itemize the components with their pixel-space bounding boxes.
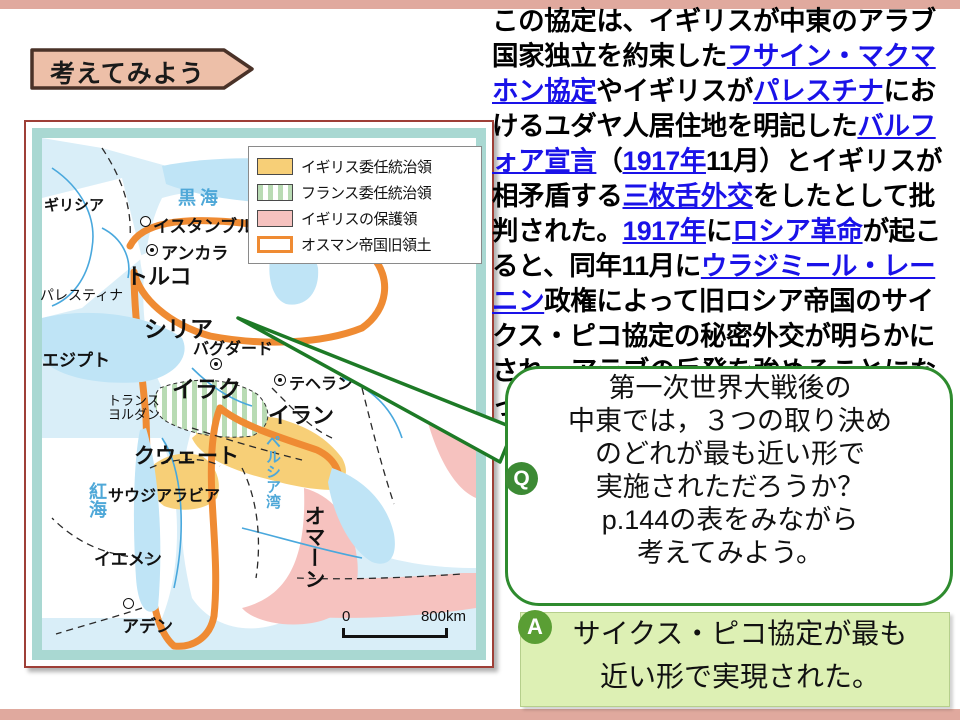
map-label-palestine: パレスティナ (40, 285, 123, 305)
city-dot-baghdad (210, 358, 222, 370)
map-scale-bar: 0 800km (340, 608, 460, 640)
map-label-aden: アデン (122, 612, 173, 637)
legend-item-british-protectorate: イギリスの保護領 (257, 205, 475, 231)
legend-item-british-mandate: イギリス委任統治領 (257, 153, 475, 179)
map-label-istanbul: イスタンブル (153, 212, 254, 237)
answer-badge-icon: A (518, 610, 552, 644)
city-dot-aden (123, 598, 134, 609)
map-label-iraq: イラク (172, 370, 241, 404)
article-span: やイギリスが (596, 76, 753, 106)
article-span: （ (596, 146, 622, 176)
map-label-turkey: トルコ (126, 259, 192, 291)
legend-label-french-mandate: フランス委任統治領 (301, 182, 431, 203)
map-label-egypt: エジプト (42, 346, 110, 371)
legend-item-french-mandate: フランス委任統治領 (257, 179, 475, 205)
question-text: 第一次世界大戦後の中東では，３つの取り決めのどれが最も近い形で実施されただろうか… (520, 372, 940, 570)
scale-tick-right (445, 628, 448, 638)
article-span: に (706, 216, 732, 246)
map-label-oman: オマーン (298, 505, 328, 589)
question-line: 第一次世界大戦後の (520, 372, 940, 405)
map-legend: イギリス委任統治領 フランス委任統治領 イギリスの保護領 オスマン帝国旧領土 (248, 146, 482, 264)
map-label-greece: ギリシア (44, 194, 104, 215)
map-label-black-sea: 黒海 (178, 184, 222, 210)
scale-min-label: 0 (342, 608, 350, 625)
map-label-red-sea: 紅海 (84, 482, 110, 518)
legend-swatch-british-mandate (257, 158, 293, 175)
answer-line: サイクス・ピコ協定が最も (540, 612, 940, 655)
article-link[interactable]: 1917年 (623, 216, 706, 246)
answer-line: 近い形で実現された。 (540, 655, 940, 698)
legend-swatch-ottoman-territory (257, 236, 293, 253)
bottom-accent-bar (0, 709, 960, 720)
scale-line (342, 635, 448, 638)
legend-swatch-french-mandate (257, 184, 293, 201)
question-line: 考えてみよう。 (520, 537, 940, 570)
scale-max-label: 800km (421, 608, 466, 625)
city-dot-ankara (146, 244, 158, 256)
question-line: p.144の表をみながら (520, 504, 940, 537)
map-label-yemen: イエメン (94, 545, 162, 570)
map-label-transjordan-2: ヨルダン (108, 404, 160, 423)
article-link[interactable]: 三枚舌外交 (623, 181, 754, 211)
article-link[interactable]: 1917年 (623, 146, 706, 176)
legend-label-british-protectorate: イギリスの保護領 (301, 208, 417, 229)
question-line: 中東では，３つの取り決め (520, 405, 940, 438)
answer-text: サイクス・ピコ協定が最も近い形で実現された。 (540, 612, 940, 698)
map-label-kuwait: クウェート (134, 440, 239, 470)
legend-label-british-mandate: イギリス委任統治領 (301, 156, 432, 177)
scale-tick-left (342, 628, 345, 638)
map-label-saudi-arabia: サウジアラビア (108, 482, 220, 506)
legend-swatch-british-protectorate (257, 210, 293, 227)
section-banner: 考えてみよう (28, 46, 258, 92)
article-text: この協定は、イギリスが中東のアラブ国家独立を約束したフサイン・マクマホン協定やイ… (492, 4, 956, 424)
article-link[interactable]: ロシア革命 (732, 216, 863, 246)
legend-item-ottoman-territory: オスマン帝国旧領土 (257, 231, 475, 257)
question-line: のどれが最も近い形で (520, 438, 940, 471)
question-line: 実施されただろうか？ (520, 471, 940, 504)
legend-label-ottoman-territory: オスマン帝国旧領土 (301, 234, 431, 255)
banner-label: 考えてみよう (50, 54, 220, 90)
city-dot-istanbul (140, 216, 151, 227)
callout-pointer (232, 300, 522, 490)
article-link[interactable]: パレスチナ (753, 76, 884, 106)
